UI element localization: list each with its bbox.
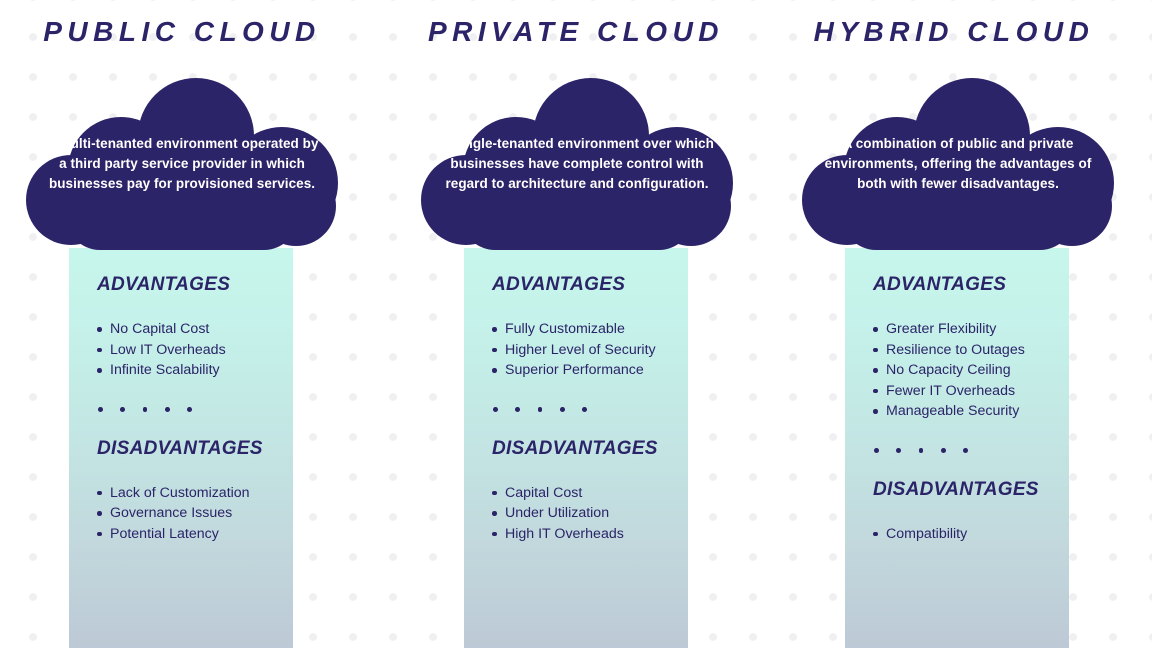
divider-dot [582, 407, 587, 412]
list-item: Superior Performance [492, 360, 678, 380]
column-title-private: PRIVATE CLOUD [394, 18, 758, 46]
list-item: Governance Issues [97, 503, 283, 523]
cloud-shape-public: A multi-tenanted environment operated by… [26, 78, 338, 250]
disadvantages-heading-public: DISADVANTAGES [97, 439, 283, 458]
advantages-heading-public: ADVANTAGES [97, 275, 283, 294]
disadvantages-list-private: Capital Cost Under Utilization High IT O… [492, 483, 678, 544]
advantages-list-private: Fully Customizable Higher Level of Secur… [492, 319, 678, 380]
column-title-hybrid: HYBRID CLOUD [772, 18, 1136, 46]
divider-dot [941, 448, 946, 453]
advantages-list-public: No Capital Cost Low IT Overheads Infinit… [97, 319, 283, 380]
divider-dot [874, 448, 879, 453]
detail-panel-public: ADVANTAGES No Capital Cost Low IT Overhe… [69, 248, 293, 648]
list-item: Fewer IT Overheads [873, 381, 1059, 401]
list-item: Resilience to Outages [873, 340, 1059, 360]
cloud-column-hybrid: HYBRID CLOUD ADVANTAGES Greater Flexibil… [772, 0, 1136, 648]
divider-dot [919, 448, 924, 453]
list-item: No Capacity Ceiling [873, 360, 1059, 380]
detail-panel-hybrid: ADVANTAGES Greater Flexibility Resilienc… [845, 248, 1069, 648]
list-item: Infinite Scalability [97, 360, 283, 380]
dot-divider-hybrid [873, 448, 1059, 453]
column-title-public: PUBLIC CLOUD [0, 18, 364, 46]
divider-dot [963, 448, 968, 453]
divider-dot [165, 407, 170, 412]
list-item: Higher Level of Security [492, 340, 678, 360]
disadvantages-list-hybrid: Compatibility [873, 524, 1059, 544]
divider-dot [896, 448, 901, 453]
cloud-shape-hybrid: A combination of public and private envi… [802, 78, 1114, 250]
disadvantages-heading-private: DISADVANTAGES [492, 439, 678, 458]
cloud-description-hybrid: A combination of public and private envi… [816, 134, 1100, 194]
divider-dot [493, 407, 498, 412]
infographic-canvas: PUBLIC CLOUD ADVANTAGES No Capital Cost … [0, 0, 1152, 648]
cloud-description-public: A multi-tenanted environment operated by… [40, 134, 324, 194]
cloud-column-public: PUBLIC CLOUD ADVANTAGES No Capital Cost … [0, 0, 364, 648]
detail-panel-private: ADVANTAGES Fully Customizable Higher Lev… [464, 248, 688, 648]
advantages-heading-private: ADVANTAGES [492, 275, 678, 294]
divider-dot [515, 407, 520, 412]
dot-divider-private [492, 407, 678, 412]
list-item: Low IT Overheads [97, 340, 283, 360]
divider-dot [98, 407, 103, 412]
list-item: Capital Cost [492, 483, 678, 503]
list-item: Greater Flexibility [873, 319, 1059, 339]
advantages-heading-hybrid: ADVANTAGES [873, 275, 1059, 294]
list-item: Potential Latency [97, 524, 283, 544]
divider-dot [560, 407, 565, 412]
dot-divider-public [97, 407, 283, 412]
cloud-column-private: PRIVATE CLOUD ADVANTAGES Fully Customiza… [394, 0, 758, 648]
cloud-shape-private: A single-tenanted environment over which… [421, 78, 733, 250]
list-item: Manageable Security [873, 401, 1059, 421]
list-item: Compatibility [873, 524, 1059, 544]
list-item: Lack of Customization [97, 483, 283, 503]
divider-dot [538, 407, 543, 412]
cloud-description-private: A single-tenanted environment over which… [435, 134, 719, 194]
list-item: No Capital Cost [97, 319, 283, 339]
list-item: High IT Overheads [492, 524, 678, 544]
list-item: Fully Customizable [492, 319, 678, 339]
divider-dot [120, 407, 125, 412]
disadvantages-heading-hybrid: DISADVANTAGES [873, 480, 1059, 499]
advantages-list-hybrid: Greater Flexibility Resilience to Outage… [873, 319, 1059, 421]
disadvantages-list-public: Lack of Customization Governance Issues … [97, 483, 283, 544]
divider-dot [187, 407, 192, 412]
list-item: Under Utilization [492, 503, 678, 523]
divider-dot [143, 407, 148, 412]
